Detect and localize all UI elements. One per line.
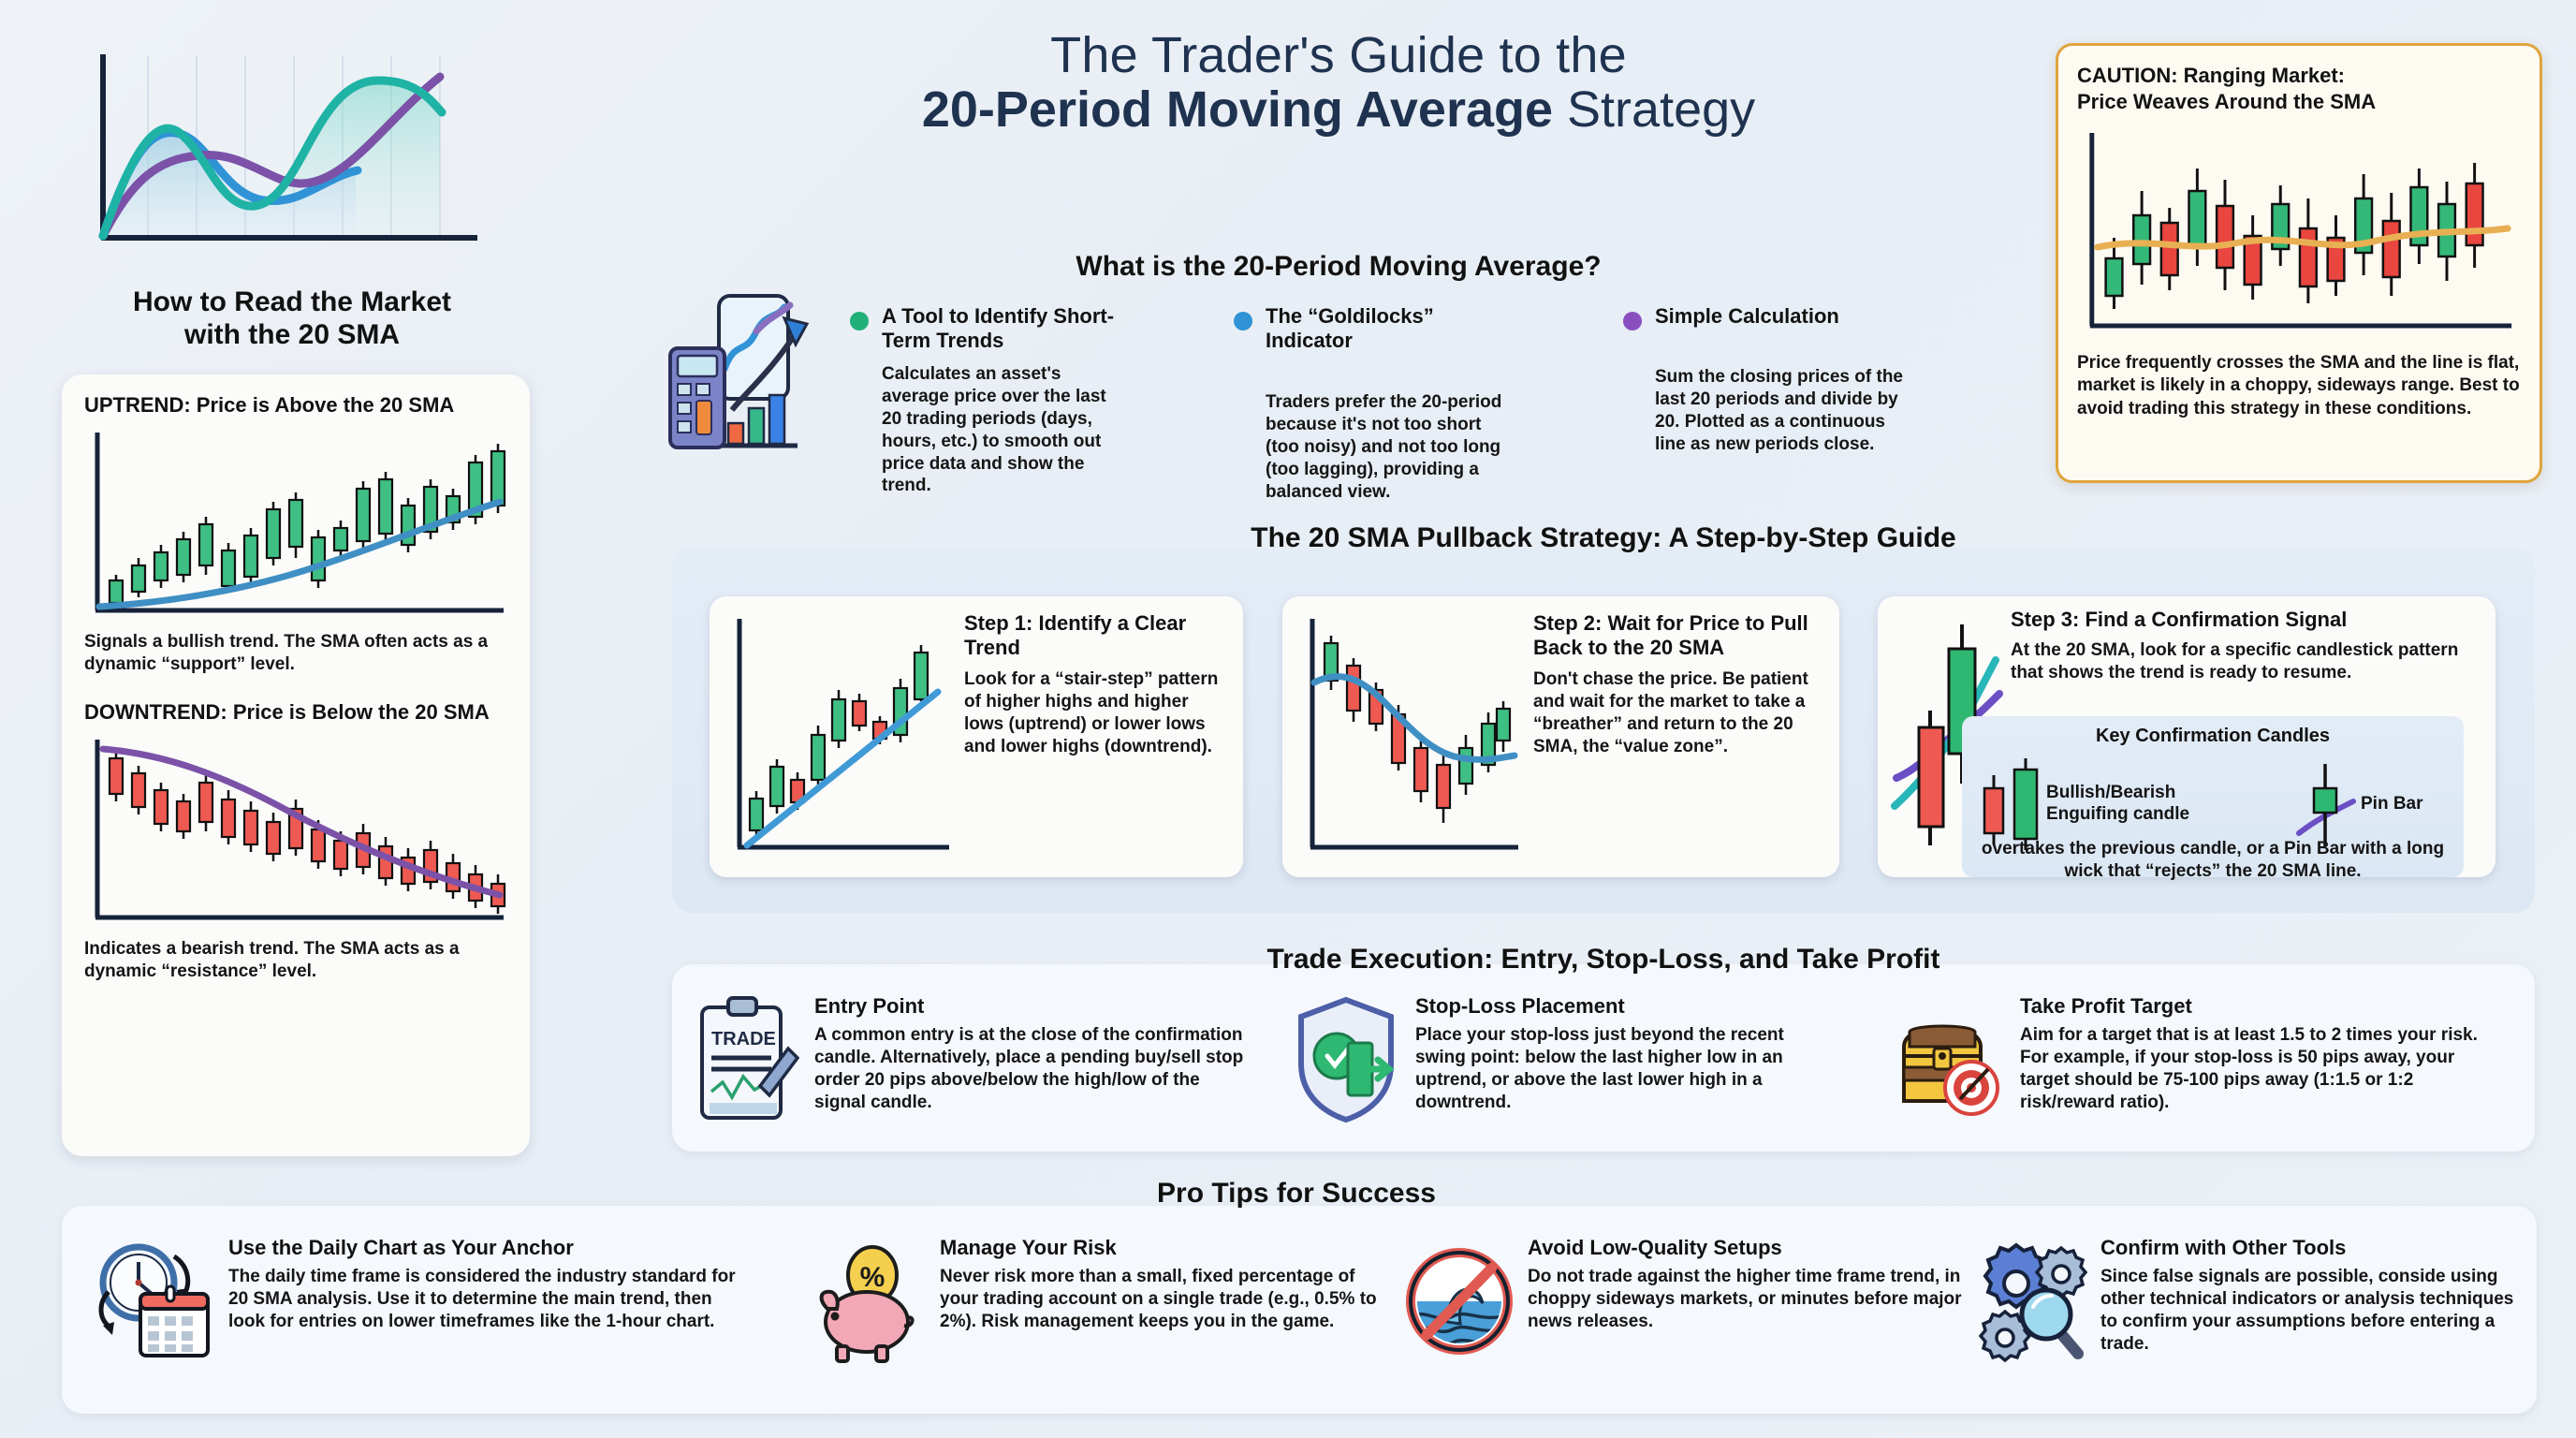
step-3-head: Step 3: Find a Confirmation Signal	[2011, 608, 2482, 632]
whatis-column-1: The “Goldilocks” Indicator Traders prefe…	[1234, 304, 1515, 503]
ranging-market-chart	[2077, 125, 2521, 341]
shield-check-icon	[1292, 994, 1400, 1125]
pullback-section-title: The 20 SMA Pullback Strategy: A Step-by-…	[672, 522, 2535, 554]
gears-magnifier-icon	[1975, 1236, 2087, 1367]
step-card-2: Step 2: Wait for Price to Pull Back to t…	[1282, 596, 1839, 877]
whatis-body-2: Sum the closing prices of the last 20 pe…	[1623, 366, 1904, 456]
step-1-chart	[726, 611, 951, 862]
tip-body-manage-risk: Never risk more than a small, fixed perc…	[940, 1266, 1395, 1333]
kcc-item-1-line-1: Bullish/Bearish	[2046, 783, 2291, 804]
svg-text:TRADE: TRADE	[711, 1029, 776, 1049]
kcc-item-1-label: Bullish/Bearish Enguifing candle	[2046, 783, 2291, 826]
whatis-column-2: Simple Calculation Sum the closing price…	[1623, 304, 1904, 456]
whatis-head-1: The “Goldilocks” Indicator	[1234, 304, 1515, 354]
trend-examples-card: UPTREND: Price is Above the 20 SMA	[62, 374, 530, 1156]
bullet-dot-blue	[1234, 312, 1252, 330]
kcc-item-1-line-2: Enguifing candle	[2046, 804, 2291, 826]
downtrend-title: DOWNTREND: Price is Below the 20 SMA	[84, 700, 507, 725]
pro-tips-section-title: Pro Tips for Success	[56, 1178, 2537, 1210]
uptrend-title: UPTREND: Price is Above the 20 SMA	[84, 393, 507, 418]
step-2-body: Don't chase the price. Be patient and wa…	[1533, 668, 1822, 758]
step-1-head: Step 1: Identify a Clear Trend	[964, 611, 1226, 661]
whatis-section-title: What is the 20-Period Moving Average?	[655, 251, 2022, 283]
whatis-head-2: Simple Calculation	[1623, 304, 1904, 329]
step-1-body: Look for a “stair-step” pattern of highe…	[964, 668, 1226, 758]
uptrend-chart	[84, 427, 507, 624]
piggy-bank-icon: %	[814, 1236, 927, 1367]
infographic-page: The Trader's Guide to the 20-Period Movi…	[0, 0, 2576, 1438]
execution-item-takeprofit: Take Profit Target Aim for a target that…	[1891, 994, 2490, 1125]
bullet-dot-green	[850, 312, 869, 330]
title-rest-part: Strategy	[1553, 81, 1755, 138]
tip-item-daily-chart: Use the Daily Chart as Your Anchor The d…	[94, 1236, 739, 1367]
caution-ranging-market-card: CAUTION: Ranging Market: Price Weaves Ar…	[2056, 43, 2542, 483]
kcc-footer-text: overtakes the previous candle, or a Pin …	[1962, 838, 2464, 883]
whatis-body-1: Traders prefer the 20-period because it'…	[1234, 391, 1515, 504]
execution-section-title: Trade Execution: Entry, Stop-Loss, and T…	[672, 944, 2535, 976]
execution-item-stoploss: Stop-Loss Placement Place your stop-loss…	[1292, 994, 1816, 1125]
step-3-body: At the 20 SMA, look for a specific candl…	[2011, 639, 2482, 684]
no-waves-icon	[1404, 1236, 1515, 1367]
caution-title-line-2: Price Weaves Around the SMA	[2077, 89, 2521, 115]
downtrend-caption: Indicates a bearish trend. The SMA acts …	[84, 938, 507, 983]
kcc-item-2-label: Pin Bar	[2361, 794, 2452, 815]
tip-body-confirm-tools: Since false signals are possible, consid…	[2100, 1266, 2518, 1356]
tip-item-confirm-tools: Confirm with Other Tools Since false sig…	[1975, 1236, 2518, 1367]
hero-decorative-chart	[66, 28, 515, 271]
execution-head-takeprofit: Take Profit Target	[2020, 994, 2490, 1019]
caution-title: CAUTION: Ranging Market: Price Weaves Ar…	[2077, 63, 2521, 114]
title-bold-part: 20-Period Moving Average	[922, 81, 1553, 138]
tip-head-avoid-setups: Avoid Low-Quality Setups	[1528, 1236, 1984, 1260]
title-line-1: The Trader's Guide to the	[655, 28, 2022, 82]
page-title: The Trader's Guide to the 20-Period Movi…	[655, 28, 2022, 138]
uptrend-caption: Signals a bullish trend. The SMA often a…	[84, 631, 507, 676]
tip-head-manage-risk: Manage Your Risk	[940, 1236, 1395, 1260]
execution-item-entry: TRADE Entry Point A common entry is at t…	[691, 994, 1252, 1125]
tip-body-avoid-setups: Do not trade against the higher time fra…	[1528, 1266, 1984, 1333]
step-2-head: Step 2: Wait for Price to Pull Back to t…	[1533, 611, 1822, 661]
step-card-1: Step 1: Identify a Clear Trend Look for …	[710, 596, 1243, 877]
execution-head-stoploss: Stop-Loss Placement	[1415, 994, 1816, 1019]
execution-head-entry: Entry Point	[814, 994, 1252, 1019]
whatis-body-0: Calculates an asset's average price over…	[850, 363, 1121, 498]
calculator-chart-icon	[666, 290, 827, 459]
caution-title-line-1: CAUTION: Ranging Market:	[2077, 63, 2521, 89]
tip-head-daily-chart: Use the Daily Chart as Your Anchor	[228, 1236, 739, 1260]
whatis-head-0: A Tool to Identify Short-Term Trends	[850, 304, 1121, 354]
caution-body: Price frequently crosses the SMA and the…	[2077, 352, 2521, 420]
bullet-dot-purple	[1623, 312, 1642, 330]
downtrend-chart	[84, 734, 507, 931]
title-line-2: 20-Period Moving Average Strategy	[655, 82, 2022, 137]
tip-head-confirm-tools: Confirm with Other Tools	[2100, 1236, 2518, 1260]
left-heading-line-1: How to Read the Market	[58, 286, 526, 318]
tip-item-manage-risk: % Manage Your Risk Never risk more than …	[814, 1236, 1395, 1367]
execution-body-stoploss: Place your stop-loss just beyond the rec…	[1415, 1024, 1816, 1114]
clock-calendar-icon	[94, 1236, 215, 1367]
execution-body-entry: A common entry is at the close of the co…	[814, 1024, 1252, 1114]
whatis-column-0: A Tool to Identify Short-Term Trends Cal…	[850, 304, 1121, 497]
svg-text:%: %	[860, 1262, 885, 1293]
tip-body-daily-chart: The daily time frame is considered the i…	[228, 1266, 739, 1333]
clipboard-trade-icon: TRADE	[691, 994, 799, 1125]
treasure-target-icon	[1891, 994, 2005, 1125]
left-heading-line-2: with the 20 SMA	[58, 318, 526, 351]
execution-body-takeprofit: Aim for a target that is at least 1.5 to…	[2020, 1024, 2490, 1114]
tip-item-avoid-setups: Avoid Low-Quality Setups Do not trade ag…	[1404, 1236, 1984, 1367]
kcc-title: Key Confirmation Candles	[1973, 726, 2452, 747]
step-2-chart	[1299, 611, 1520, 862]
left-section-heading: How to Read the Market with the 20 SMA	[58, 286, 526, 352]
